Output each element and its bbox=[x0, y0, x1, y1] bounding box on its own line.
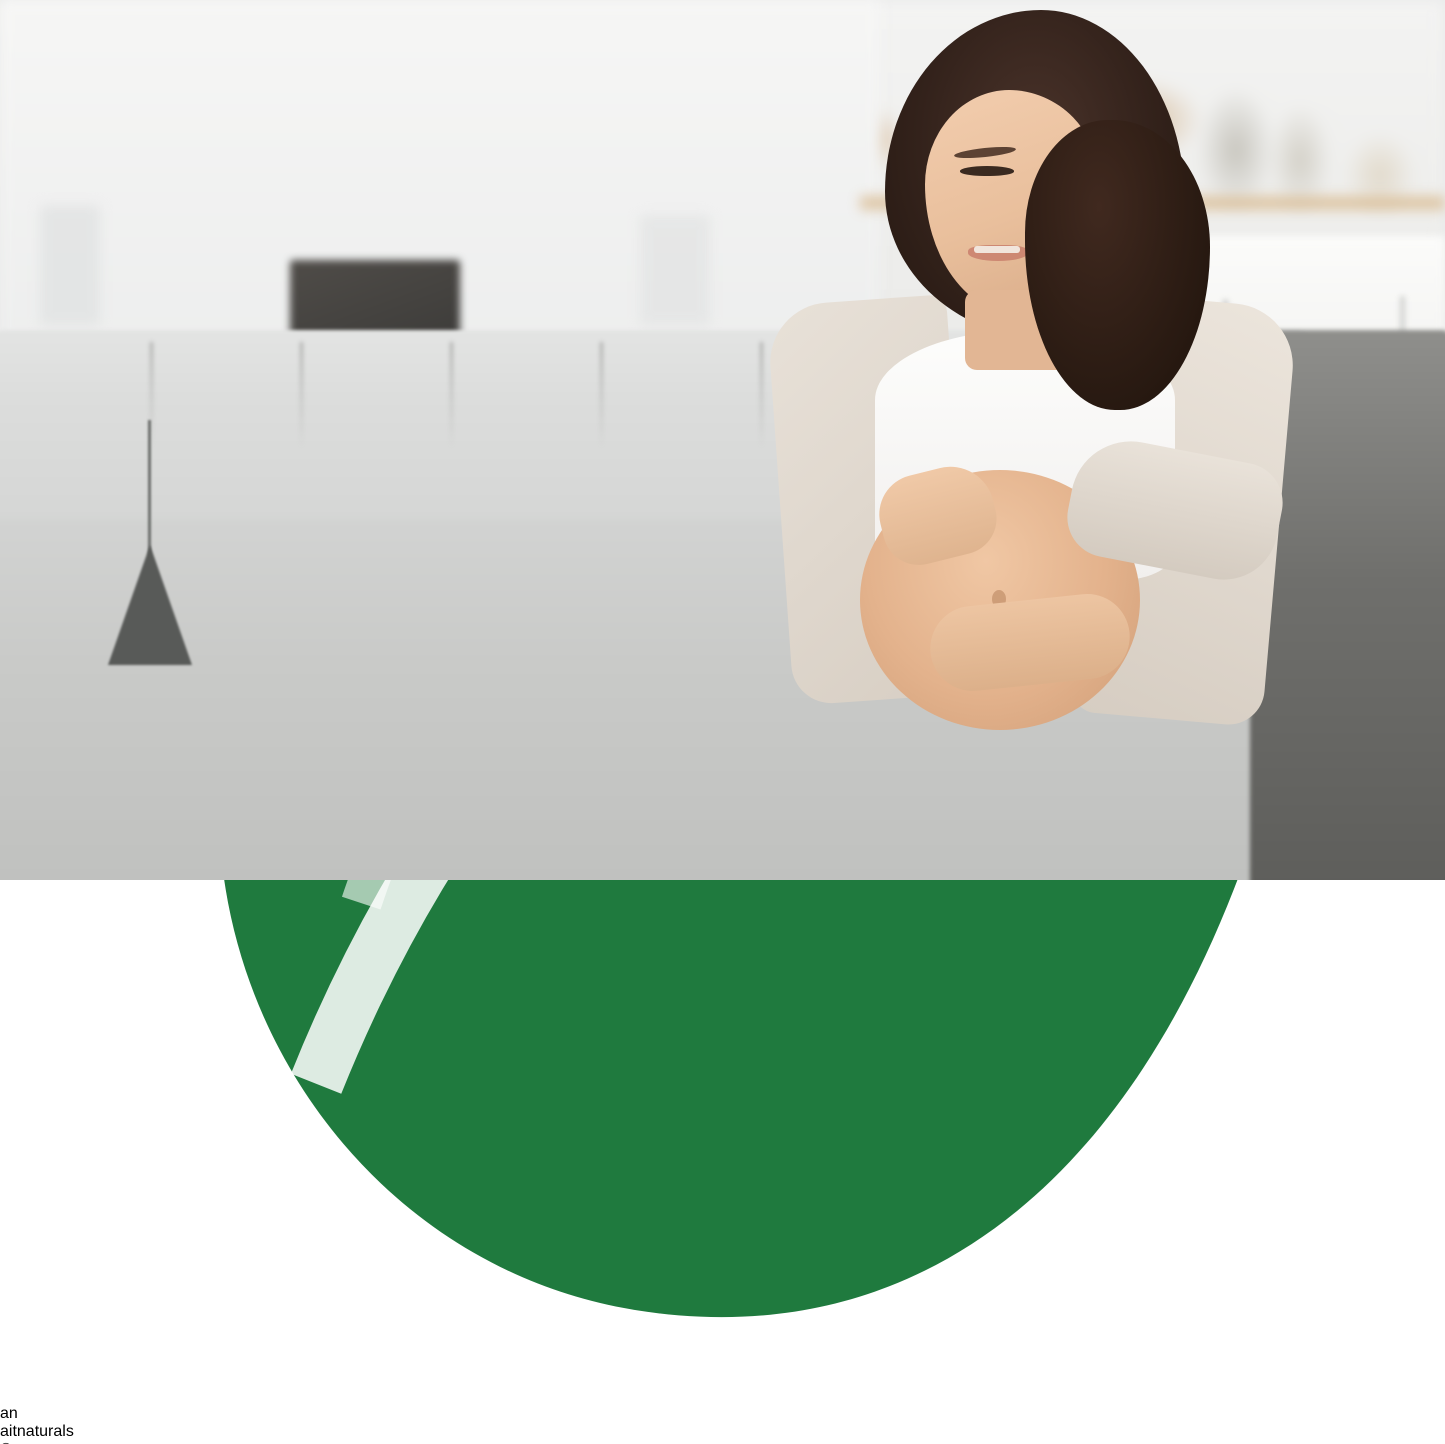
pregnant-woman bbox=[700, 0, 1360, 880]
teeth bbox=[974, 246, 1020, 253]
sofa-crease bbox=[600, 342, 603, 447]
key-benefits-poster: an aitnaturals ® KEY BENEFITS bbox=[0, 0, 1445, 1444]
wall-panel-a bbox=[40, 205, 100, 325]
logo-main-word: aitnaturals bbox=[0, 1423, 1445, 1441]
logo-word-green: ait bbox=[0, 1423, 17, 1440]
logo-word-navy: naturals bbox=[17, 1423, 74, 1440]
sofa-crease bbox=[300, 342, 303, 447]
hero-photo bbox=[0, 0, 1445, 880]
lamp-base bbox=[108, 545, 192, 665]
eye bbox=[960, 166, 1014, 176]
lamp-pole bbox=[148, 420, 151, 555]
sofa-crease bbox=[450, 342, 453, 447]
logo-top-word: an bbox=[0, 1405, 1445, 1423]
